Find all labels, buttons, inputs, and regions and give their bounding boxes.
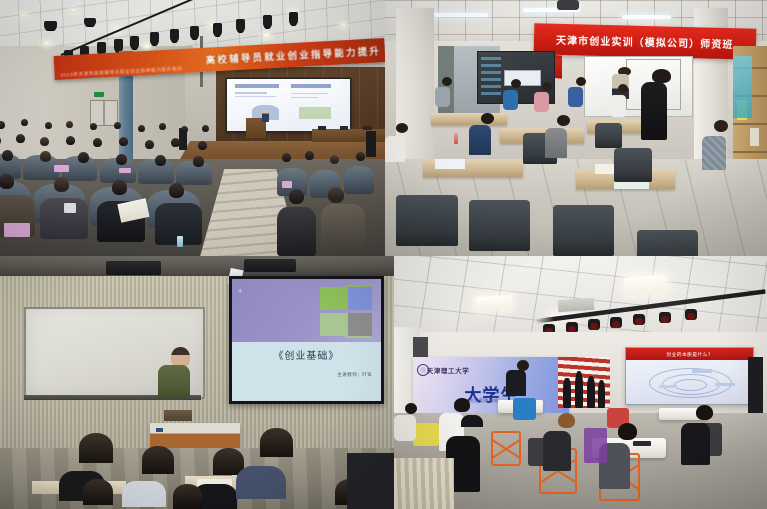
stage-light	[588, 319, 600, 330]
speaker-figure	[262, 110, 269, 122]
panel-top-right: 天津市创业实训（模拟公司）师资班	[385, 0, 767, 256]
audience-left-block	[0, 118, 231, 256]
stage-light	[610, 317, 622, 328]
person-body	[681, 423, 710, 465]
orange-chair	[491, 431, 521, 466]
audience-right-block	[277, 148, 385, 256]
person-body	[702, 136, 726, 170]
ceiling-light	[622, 15, 672, 19]
presenter-body	[506, 370, 526, 396]
person-head	[618, 423, 637, 440]
foreground-person-stripes	[394, 458, 454, 509]
chair	[637, 230, 698, 256]
pa-speaker	[748, 357, 763, 413]
chair	[614, 148, 652, 181]
event-banner: 天津市创业实训（模拟公司）师资班	[534, 23, 756, 59]
screen-headline-text: 创业的本质是什么？	[666, 351, 713, 358]
person-body	[545, 128, 567, 158]
ceiling-projector	[244, 259, 296, 272]
ceiling-light-panel	[625, 275, 668, 296]
lecturer-body	[158, 365, 190, 398]
backpack	[584, 428, 606, 463]
person-head	[542, 82, 552, 91]
ceiling-downlight	[19, 13, 28, 18]
ceiling-ac-vent	[558, 298, 595, 312]
student-body	[122, 481, 166, 507]
lecturer-lower	[164, 410, 192, 421]
student-head	[173, 484, 202, 509]
screen-headline-bar: 创业的本质是什么？	[626, 348, 753, 360]
stage-light	[685, 309, 697, 320]
person-body	[385, 136, 405, 162]
person-body	[610, 95, 626, 117]
student-head	[260, 428, 293, 457]
person-head	[576, 77, 586, 86]
backdrop-subline: 创业实践活动	[469, 398, 498, 404]
chair	[595, 123, 622, 149]
person-head	[696, 405, 713, 420]
podium-item	[156, 428, 163, 432]
water-bottle	[177, 236, 183, 247]
cap-icon	[461, 415, 483, 427]
stage-light	[633, 314, 645, 325]
stage-backdrop: 天津理工大学 大学生 创业实践活动	[413, 357, 570, 413]
backdrop-logo-text: 天津理工大学	[427, 365, 470, 375]
blue-chair	[513, 398, 535, 421]
panel-bottom-right: 天津理工大学 大学生 创业实践活动 创业的本质是什么？	[394, 256, 767, 509]
chair	[396, 195, 457, 246]
person-body	[543, 431, 571, 471]
panel-bottom-left: + 《创业基础》 主讲教师：叶军	[0, 256, 394, 509]
event-banner-text: 天津市创业实训（模拟公司）师资班	[556, 31, 734, 50]
event-banner-text: 高校辅导员就业创业指导能力提升	[205, 44, 381, 67]
person-body	[641, 82, 667, 140]
water-bottle	[454, 133, 458, 144]
student-head	[79, 433, 113, 463]
exit-sign-icon	[94, 92, 104, 97]
phone-on-table	[633, 441, 652, 446]
stage-light	[659, 312, 671, 323]
person-body	[394, 415, 416, 441]
student-body	[236, 466, 286, 499]
ceiling	[0, 256, 394, 276]
chair	[553, 205, 614, 256]
photo-collage: 高校辅导员就业创业指导能力提升 2023年天津市高校辅导员就业创业指导能力提升培…	[0, 0, 767, 509]
chair	[469, 200, 530, 251]
person-head	[558, 413, 575, 428]
person-body	[503, 90, 518, 110]
smartphone	[64, 203, 76, 213]
person-head	[405, 403, 417, 414]
notebook	[435, 159, 466, 169]
person-head	[454, 398, 470, 412]
panel-top-left: 高校辅导员就业创业指导能力提升 2023年天津市高校辅导员就业创业指导能力提升培…	[0, 0, 385, 256]
student-body	[347, 453, 394, 509]
slide-title: 《创业基础》	[232, 347, 382, 362]
ceiling-projector	[106, 261, 161, 275]
projection-slide: + 《创业基础》 主讲教师：叶军	[229, 276, 385, 403]
desk	[431, 113, 507, 126]
person-body	[568, 87, 583, 107]
person-head	[481, 113, 494, 124]
slide-subtitle: 主讲教师：叶军	[337, 372, 372, 378]
student-head	[142, 446, 174, 474]
student-head	[83, 479, 113, 505]
presentation-screen: 创业的本质是什么？	[625, 347, 754, 405]
silhouette-panel	[558, 357, 610, 408]
person-body	[534, 92, 549, 112]
ceiling-projector	[557, 0, 579, 10]
person-body	[469, 125, 491, 155]
wall-decor	[733, 56, 752, 117]
yellow-chair	[413, 423, 439, 446]
person-head	[714, 120, 728, 132]
person-body	[435, 87, 450, 107]
